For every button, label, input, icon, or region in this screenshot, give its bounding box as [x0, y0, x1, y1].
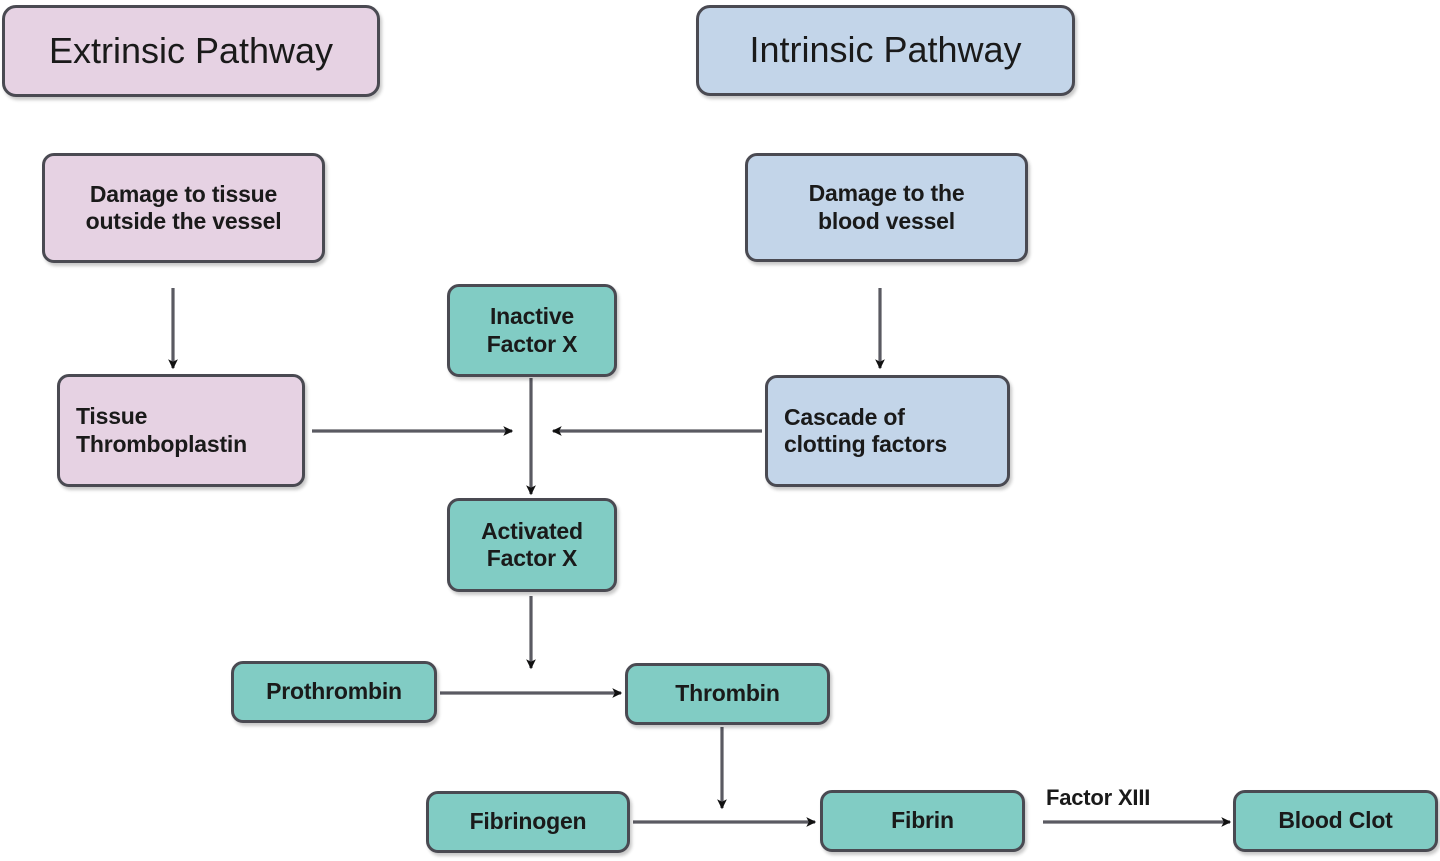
node-inactive-factor-x: Inactive Factor X	[447, 284, 617, 377]
node-prothrombin: Prothrombin	[231, 661, 437, 723]
node-fibrinogen: Fibrinogen	[426, 791, 630, 853]
header-extrinsic-pathway: Extrinsic Pathway	[2, 5, 380, 97]
node-fibrin: Fibrin	[820, 790, 1025, 852]
edge-label-factor-xiii: Factor XIII	[1046, 785, 1150, 811]
node-blood-clot: Blood Clot	[1233, 790, 1438, 852]
node-damage-to-tissue: Damage to tissue outside the vessel	[42, 153, 325, 263]
header-intrinsic-pathway: Intrinsic Pathway	[696, 5, 1075, 96]
node-damage-to-blood-vessel: Damage to the blood vessel	[745, 153, 1028, 262]
node-thrombin: Thrombin	[625, 663, 830, 725]
node-activated-factor-x: Activated Factor X	[447, 498, 617, 592]
node-cascade-of-clotting-factors: Cascade of clotting factors	[765, 375, 1010, 487]
node-tissue-thromboplastin: Tissue Thromboplastin	[57, 374, 305, 487]
coagulation-cascade-diagram: Extrinsic Pathway Intrinsic Pathway Dama…	[0, 0, 1440, 861]
